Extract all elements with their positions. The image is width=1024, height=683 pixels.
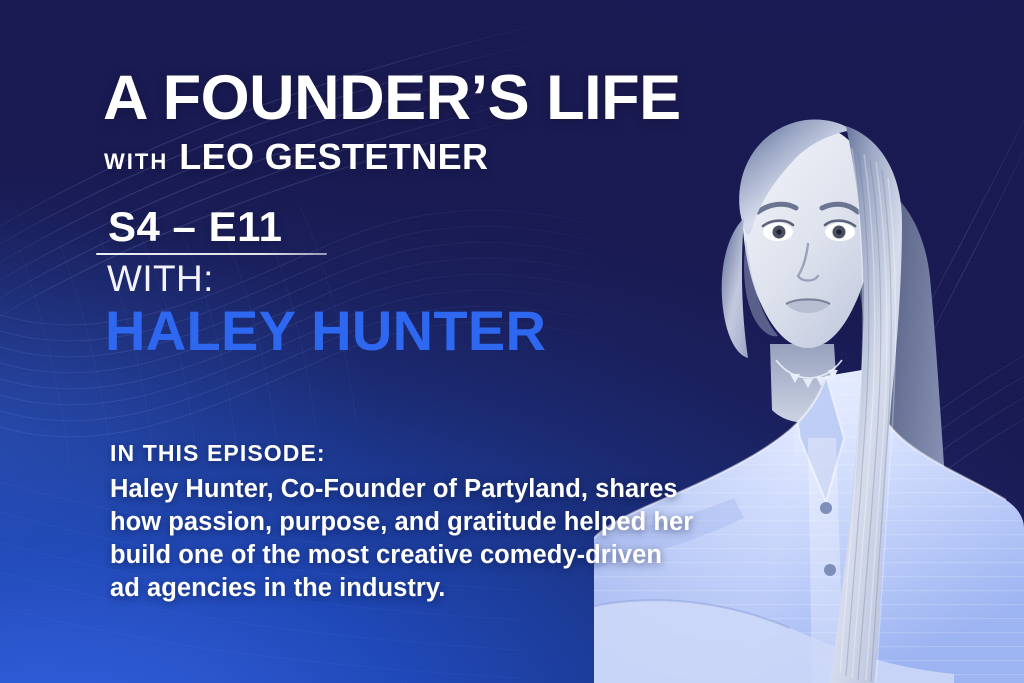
host-with-label: WITH xyxy=(104,149,168,175)
description-line: Haley Hunter, Co-Founder of Partyland, s… xyxy=(110,473,830,506)
in-this-episode-heading: IN THIS EPISODE: xyxy=(110,440,326,467)
description-line: ad agencies in the industry. xyxy=(110,572,830,605)
description-line: how passion, purpose, and gratitude help… xyxy=(110,506,830,539)
description-line: build one of the most creative comedy-dr… xyxy=(110,539,830,572)
host-byline: WITH LEO GESTETNER xyxy=(104,136,488,178)
episode-code: S4 – E11 xyxy=(108,203,282,251)
episode-description: Haley Hunter, Co-Founder of Partyland, s… xyxy=(110,473,830,606)
episode-card: A FOUNDER’S LIFE WITH LEO GESTETNER S4 –… xyxy=(0,0,1024,683)
guest-name: HALEY HUNTER xyxy=(105,298,546,363)
divider-rule xyxy=(96,253,327,255)
guest-with-label: WITH: xyxy=(107,258,214,300)
show-title: A FOUNDER’S LIFE xyxy=(103,69,681,128)
text-content: A FOUNDER’S LIFE WITH LEO GESTETNER S4 –… xyxy=(0,0,1024,683)
host-name: LEO GESTETNER xyxy=(179,136,488,178)
